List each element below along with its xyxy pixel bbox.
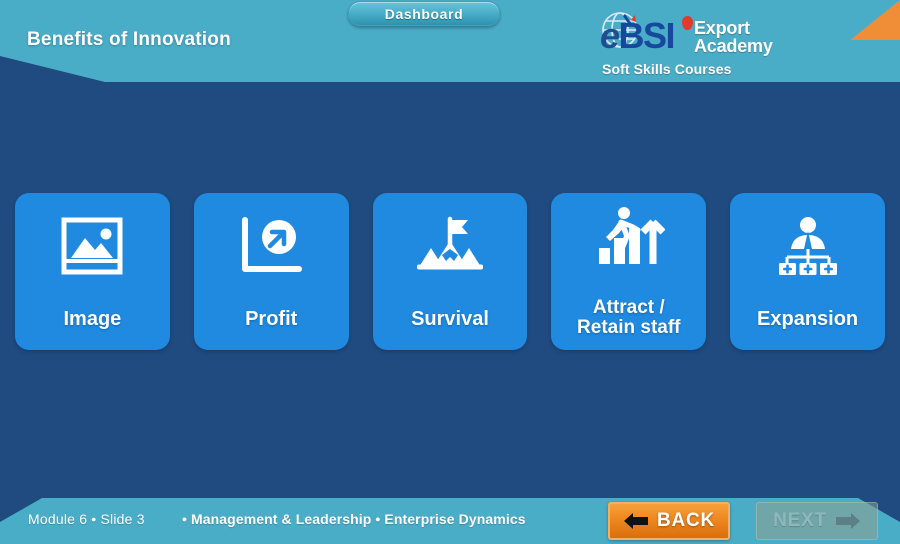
logo-letters-bsi: BSI: [619, 15, 675, 56]
org-chart-person-icon: [777, 211, 839, 281]
tile-label-line-1: Attract /: [555, 298, 702, 318]
page-title: Benefits of Innovation: [27, 29, 231, 51]
tile-label-survival: Survival: [373, 309, 528, 330]
logo-line-academy: Academy: [694, 37, 773, 55]
arrow-left-icon: [623, 512, 649, 530]
next-button-label: NEXT: [773, 510, 827, 532]
benefit-tile-grid: Image Profit: [15, 193, 885, 350]
tile-label-line-2: Retain staff: [555, 318, 702, 338]
tile-label-image: Image: [15, 309, 170, 330]
tile-label-expansion: Expansion: [730, 309, 885, 330]
module-slide-indicator: Module 6 • Slide 3: [28, 511, 145, 527]
growth-chart-arrow-icon: [239, 211, 303, 281]
brand-logo: eBSI Export Academy Soft Skills Courses: [598, 8, 773, 80]
tile-attract-retain-staff[interactable]: Attract / Retain staff: [551, 193, 706, 350]
tile-label-profit: Profit: [194, 309, 349, 330]
dashboard-button[interactable]: Dashboard: [348, 1, 500, 26]
logo-subtitle: Soft Skills Courses: [602, 61, 732, 77]
slide-root: Benefits of Innovation Dashboard eBSI Ex…: [0, 0, 900, 544]
tile-label-attract-retain-staff: Attract / Retain staff: [551, 298, 706, 338]
person-climbing-bars-icon: [593, 205, 665, 267]
logo-wordmark: eBSI: [600, 18, 674, 54]
tile-image[interactable]: Image: [15, 193, 170, 350]
logo-text-block: Export Academy: [694, 19, 773, 56]
breadcrumb: • Management & Leadership • Enterprise D…: [182, 511, 526, 527]
back-button-label: BACK: [657, 510, 715, 532]
tile-profit[interactable]: Profit: [194, 193, 349, 350]
mountain-flag-icon: [417, 211, 483, 281]
next-button[interactable]: NEXT: [756, 502, 878, 540]
logo-letter-e: e: [600, 15, 619, 56]
back-button[interactable]: BACK: [608, 502, 730, 540]
picture-icon: [61, 211, 123, 281]
tile-expansion[interactable]: Expansion: [730, 193, 885, 350]
dashboard-button-label: Dashboard: [385, 6, 464, 22]
logo-accent-dot: [682, 16, 693, 30]
tile-survival[interactable]: Survival: [373, 193, 528, 350]
arrow-right-icon: [835, 512, 861, 530]
logo-line-export: Export: [694, 19, 773, 37]
